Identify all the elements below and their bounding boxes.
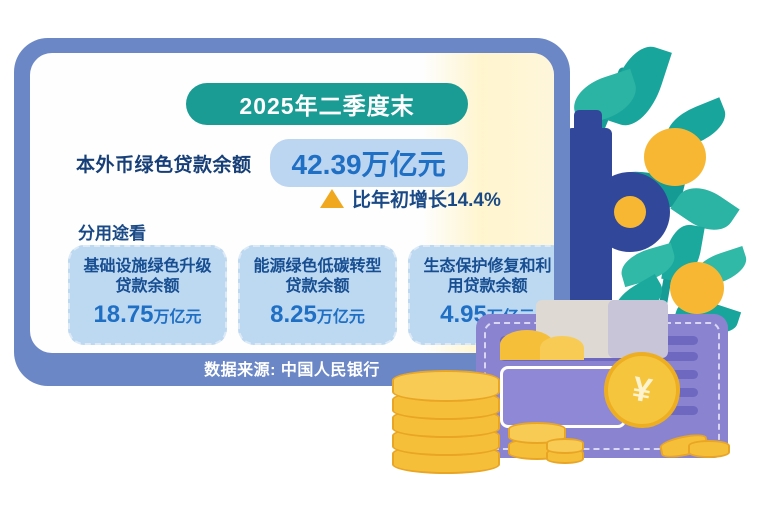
wallet-stripe bbox=[500, 352, 698, 361]
bank-emblem-center bbox=[614, 196, 646, 228]
bank-round-emblem bbox=[590, 172, 670, 252]
branch-illustration-upper-right bbox=[560, 40, 768, 270]
section-sub-heading: 分用途看 bbox=[78, 219, 146, 244]
category-label: 能源绿色低碳转型贷款余额 bbox=[246, 257, 389, 297]
bank-building-top bbox=[574, 110, 602, 138]
category-unit: 万亿元 bbox=[154, 309, 202, 326]
leaf-icon bbox=[660, 97, 732, 152]
category-number: 8.25 bbox=[270, 301, 317, 328]
card-inner: 2025年二季度末 本外币绿色贷款余额 42.39万亿元 比年初增长14.4% … bbox=[30, 53, 554, 353]
category-unit: 万亿元 bbox=[317, 309, 365, 326]
bank-building-shape bbox=[566, 128, 612, 328]
category-label: 生态保护修复和利用贷款余额 bbox=[416, 257, 554, 297]
leaf-icon bbox=[604, 39, 672, 132]
leaf-icon bbox=[689, 246, 751, 290]
category-number: 18.75 bbox=[93, 301, 153, 328]
category-box-energy: 能源绿色低碳转型贷款余额 8.25万亿元 bbox=[238, 245, 397, 345]
leaf-icon bbox=[661, 221, 705, 284]
wallet-stripe bbox=[500, 336, 698, 345]
headline-value: 42.39万亿元 bbox=[292, 143, 446, 183]
leaf-icon bbox=[603, 163, 686, 218]
triangle-up-icon bbox=[320, 189, 344, 208]
headline-title-pill: 2025年二季度末 bbox=[186, 83, 468, 125]
leaf-icon bbox=[617, 243, 679, 287]
category-box-infrastructure: 基础设施绿色升级贷款余额 18.75万亿元 bbox=[68, 245, 227, 345]
headline-title-text: 2025年二季度末 bbox=[239, 87, 414, 121]
green-loan-infographic: ¥ 2025年二季度末 本外币绿色贷款余额 42.39万亿元 比年初增长14.4… bbox=[0, 0, 768, 523]
category-value: 18.75万亿元 bbox=[76, 301, 219, 329]
leaf-icon bbox=[670, 177, 739, 241]
headline-row: 本外币绿色贷款余额 42.39万亿元 bbox=[76, 139, 468, 187]
leaf-icon bbox=[567, 69, 642, 127]
source-label: 数据来源: 中国人民银行 bbox=[204, 356, 380, 380]
category-label: 基础设施绿色升级贷款余额 bbox=[76, 257, 219, 297]
growth-text: 比年初增长14.4% bbox=[352, 185, 501, 212]
category-value: 8.25万亿元 bbox=[246, 301, 389, 329]
growth-row: 比年初增长14.4% bbox=[320, 185, 501, 212]
headline-label: 本外币绿色贷款余额 bbox=[76, 150, 252, 177]
wallet-illustration bbox=[476, 314, 728, 458]
headline-value-pill: 42.39万亿元 bbox=[270, 139, 468, 187]
fruit-icon bbox=[670, 262, 724, 314]
yen-symbol: ¥ bbox=[630, 372, 655, 409]
fruit-icon bbox=[644, 128, 706, 186]
